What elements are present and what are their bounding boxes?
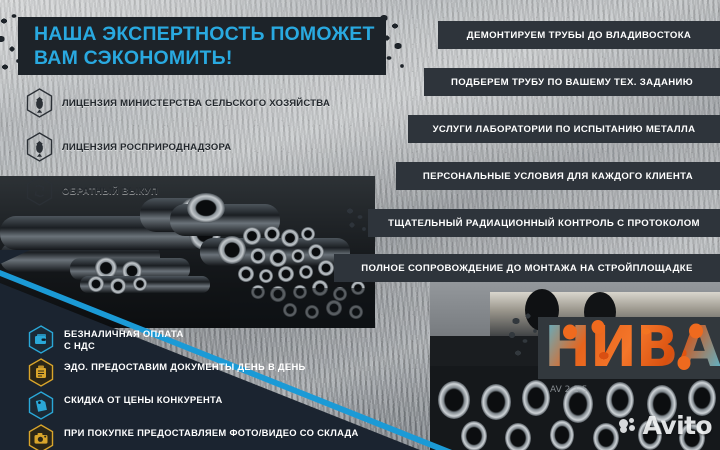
license-item: ОБРАТНЫЙ ВЫКУП: [26, 176, 330, 206]
headline-text: НАША ЭКСПЕРТНОСТЬ ПОМОЖЕТ ВАМ СЭКОНОМИТЬ…: [34, 22, 394, 70]
service-bar: УСЛУГИ ЛАБОРАТОРИИ ПО ИСПЫТАНИЮ МЕТАЛЛА: [408, 115, 720, 143]
benefit-item: ПРИ ПОКУПКЕ ПРЕДОСТАВЛЯЕМ ФОТО/ВИДЕО СО …: [28, 424, 359, 450]
svg-text:AV 2 1 5: AV 2 1 5: [550, 385, 588, 395]
avito-label: Avito: [643, 411, 712, 440]
service-label: ДЕМОНТИРУЕМ ТРУБЫ ДО ВЛАДИВОСТОКА: [467, 30, 691, 41]
benefit-label: ЭДО. ПРЕДОСТАВИМ ДОКУМЕНТЫ ДЕНЬ В ДЕНЬ: [64, 358, 306, 373]
service-label: ПЕРСОНАЛЬНЫЕ УСЛОВИЯ ДЛЯ КАЖДОГО КЛИЕНТА: [423, 171, 693, 182]
camera-icon: [28, 424, 54, 450]
avito-watermark: Avito: [619, 411, 712, 440]
benefit-item: ЭДО. ПРЕДОСТАВИМ ДОКУМЕНТЫ ДЕНЬ В ДЕНЬ: [28, 358, 359, 391]
benefit-item: СКИДКА ОТ ЦЕНЫ КОНКУРЕНТА: [28, 391, 359, 424]
service-label: ТЩАТЕЛЬНЫЙ РАДИАЦИОННЫЙ КОНТРОЛЬ С ПРОТО…: [388, 218, 700, 229]
license-label: ЛИЦЕНЗИЯ МИНИСТЕРСТВА СЕЛЬСКОГО ХОЗЯЙСТВ…: [62, 98, 330, 109]
license-item: ЛИЦЕНЗИЯ МИНИСТЕРСТВА СЕЛЬСКОГО ХОЗЯЙСТВ…: [26, 88, 330, 118]
bar-splatter: [344, 205, 374, 237]
license-label: ОБРАТНЫЙ ВЫКУП: [62, 186, 158, 197]
logo-rust-dots: [544, 316, 720, 380]
service-bar: ПОЛНОЕ СОПРОВОЖДЕНИЕ ДО МОНТАЖА НА СТРОЙ…: [334, 254, 720, 282]
advertisement-banner: AV 2 1 5 НАША ЭКСПЕРТНОСТЬ ПОМОЖЕТ ВАМ С…: [0, 0, 720, 450]
benefit-line-1: БЕЗНАЛИЧНАЯ ОПЛАТА: [64, 328, 184, 339]
benefit-label: БЕЗНАЛИЧНАЯ ОПЛАТА С НДС: [64, 325, 184, 351]
benefit-label: СКИДКА ОТ ЦЕНЫ КОНКУРЕНТА: [64, 391, 223, 406]
buyback-arrows-icon: [26, 176, 53, 206]
eagle-emblem-icon: [26, 88, 53, 118]
headline-line-1: НАША ЭКСПЕРТНОСТЬ ПОМОЖЕТ: [34, 22, 394, 46]
service-bar: ПОДБЕРЕМ ТРУБУ ПО ВАШЕМУ ТЕХ. ЗАДАНИЮ: [424, 68, 720, 96]
eagle-emblem-icon: [26, 132, 53, 162]
avito-logo-icon: [619, 416, 638, 435]
service-bar: ТЩАТЕЛЬНЫЙ РАДИАЦИОННЫЙ КОНТРОЛЬ С ПРОТО…: [368, 209, 720, 237]
license-list: ЛИЦЕНЗИЯ МИНИСТЕРСТВА СЕЛЬСКОГО ХОЗЯЙСТВ…: [26, 88, 330, 220]
service-bar: ПЕРСОНАЛЬНЫЕ УСЛОВИЯ ДЛЯ КАЖДОГО КЛИЕНТА: [396, 162, 720, 190]
license-item: ЛИЦЕНЗИЯ РОСПРИРОДНАДЗОРА: [26, 132, 330, 162]
benefit-item: БЕЗНАЛИЧНАЯ ОПЛАТА С НДС: [28, 325, 359, 358]
benefit-label: ПРИ ПОКУПКЕ ПРЕДОСТАВЛЯЕМ ФОТО/ВИДЕО СО …: [64, 424, 359, 439]
benefit-line-2: С НДС: [64, 340, 95, 351]
benefit-list: БЕЗНАЛИЧНАЯ ОПЛАТА С НДС ЭДО. ПРЕДОСТАВИ…: [28, 325, 359, 450]
service-bar: ДЕМОНТИРУЕМ ТРУБЫ ДО ВЛАДИВОСТОКА: [438, 21, 720, 49]
document-icon: [28, 358, 54, 387]
service-label: ПОДБЕРЕМ ТРУБУ ПО ВАШЕМУ ТЕХ. ЗАДАНИЮ: [451, 77, 693, 88]
license-label: ЛИЦЕНЗИЯ РОСПРИРОДНАДЗОРА: [62, 142, 231, 153]
service-label: ПОЛНОЕ СОПРОВОЖДЕНИЕ ДО МОНТАЖА НА СТРОЙ…: [361, 263, 692, 274]
service-label: УСЛУГИ ЛАБОРАТОРИИ ПО ИСПЫТАНИЮ МЕТАЛЛА: [433, 124, 696, 135]
headline-line-2: ВАМ СЭКОНОМИТЬ!: [34, 46, 394, 70]
price-tag-icon: [28, 391, 54, 420]
wallet-card-icon: [28, 325, 54, 354]
